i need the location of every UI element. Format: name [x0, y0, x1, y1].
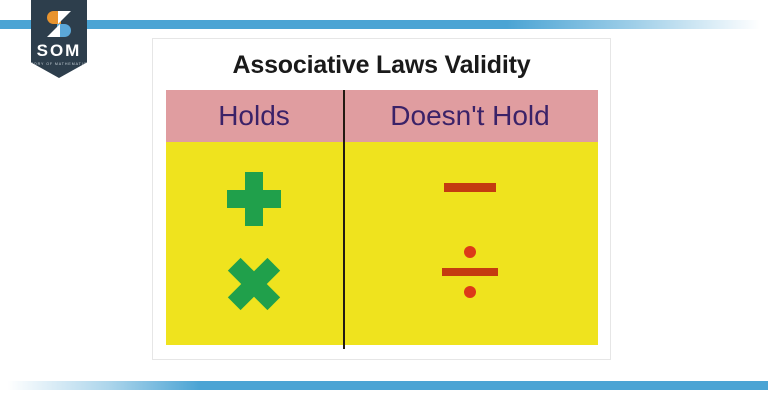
column-divider-line [343, 90, 345, 349]
divide-dot-bottom [464, 286, 476, 298]
content-card: Associative Laws Validity Holds Doesn't … [152, 38, 611, 360]
som-monogram-icon [47, 11, 71, 37]
cell-holds-symbols [166, 142, 343, 345]
logo-tagline: STORY OF MATHEMATICS [28, 62, 91, 66]
som-logo-badge: SOM STORY OF MATHEMATICS [31, 0, 87, 78]
plus-symbol-icon [227, 172, 281, 226]
divide-symbol-icon [442, 246, 498, 298]
top-accent-band [0, 20, 768, 29]
associative-laws-table: Holds Doesn't Hold [166, 90, 598, 345]
column-header-holds: Holds [166, 90, 343, 142]
table-header-row: Holds Doesn't Hold [166, 90, 598, 142]
logo-wordmark: SOM [37, 42, 82, 59]
column-header-doesnt-hold: Doesn't Hold [343, 90, 598, 142]
multiply-symbol-icon [229, 259, 279, 309]
cell-doesnt-hold-symbols [343, 142, 598, 345]
divide-dot-top [464, 246, 476, 258]
table-body-row [166, 142, 598, 345]
bottom-accent-band [0, 381, 768, 390]
monogram-top-white [58, 11, 71, 24]
minus-symbol-icon [444, 183, 496, 192]
divide-bar [442, 268, 498, 276]
monogram-bottom-white [47, 24, 60, 37]
page-title: Associative Laws Validity [233, 51, 531, 80]
